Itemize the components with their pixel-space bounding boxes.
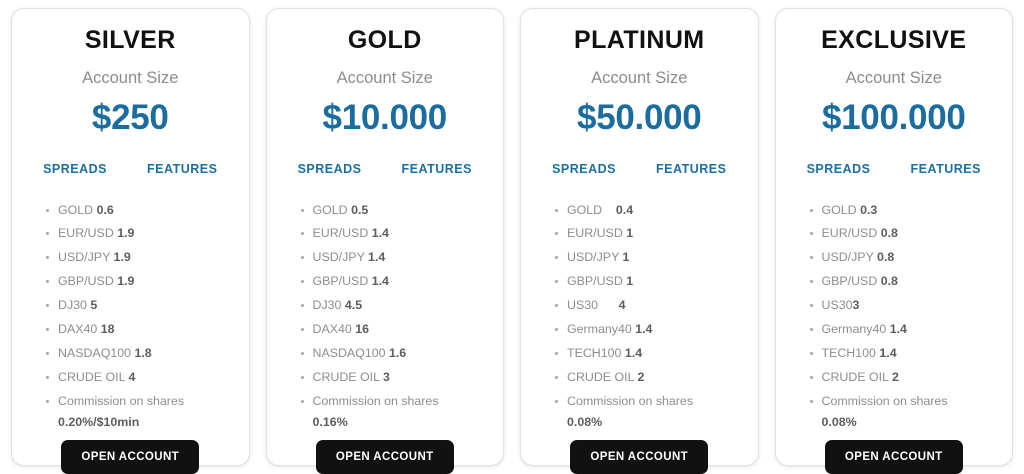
account-size-value: $100.000 xyxy=(822,98,966,138)
pricing-card: PLATINUMAccount Size$50.000SPREADSFEATUR… xyxy=(520,8,759,466)
plan-title: SILVER xyxy=(85,27,176,55)
feature-value: 18 xyxy=(101,322,115,336)
list-item: DAX40 18 xyxy=(46,323,249,335)
feature-label: GOLD xyxy=(567,203,616,217)
feature-list: GOLD 0.3EUR/USD 0.8USD/JPY 0.8GBP/USD 0.… xyxy=(776,204,1013,441)
feature-label: Germany40 xyxy=(567,322,635,336)
feature-value: 3 xyxy=(383,370,390,384)
feature-value: 4 xyxy=(128,370,135,384)
feature-value: 0.6 xyxy=(97,203,114,217)
list-item: TECH100 1.4 xyxy=(810,347,1013,359)
feature-label: DJ30 xyxy=(313,298,345,312)
feature-value: 2 xyxy=(637,370,644,384)
list-item: US30 4 xyxy=(555,299,758,311)
plan-tabs: SPREADSFEATURES xyxy=(776,162,1013,176)
list-item: US303 xyxy=(810,299,1013,311)
list-item: Germany40 1.4 xyxy=(810,323,1013,335)
list-item: EUR/USD 1.9 xyxy=(46,227,249,239)
feature-value: 1.4 xyxy=(372,226,389,240)
feature-label: EUR/USD xyxy=(822,226,881,240)
feature-label: USD/JPY xyxy=(58,250,114,264)
feature-label: Germany40 xyxy=(822,322,890,336)
feature-value: 1.4 xyxy=(368,250,385,264)
feature-label: USD/JPY xyxy=(567,250,623,264)
list-item: GBP/USD 0.8 xyxy=(810,275,1013,287)
list-item: Commission on shares0.08% xyxy=(810,395,1013,429)
pricing-card: GOLDAccount Size$10.000SPREADSFEATURESGO… xyxy=(266,8,505,466)
feature-list: GOLD 0.6EUR/USD 1.9USD/JPY 1.9GBP/USD 1.… xyxy=(12,204,249,441)
account-size-label: Account Size xyxy=(82,69,178,88)
feature-label: EUR/USD xyxy=(313,226,372,240)
tab-spreads[interactable]: SPREADS xyxy=(552,162,616,176)
feature-label: Commission on shares xyxy=(58,394,184,408)
list-item: EUR/USD 0.8 xyxy=(810,227,1013,239)
feature-label: TECH100 xyxy=(822,346,880,360)
account-size-label: Account Size xyxy=(591,69,687,88)
feature-value: 1 xyxy=(626,274,633,288)
feature-label: NASDAQ100 xyxy=(58,346,134,360)
feature-label: Commission on shares xyxy=(822,394,948,408)
list-item: NASDAQ100 1.8 xyxy=(46,347,249,359)
feature-label: DAX40 xyxy=(313,322,356,336)
plan-title: EXCLUSIVE xyxy=(821,27,966,55)
tab-features[interactable]: FEATURES xyxy=(656,162,726,176)
feature-label: CRUDE OIL xyxy=(58,370,128,384)
list-item: CRUDE OIL 3 xyxy=(301,371,504,383)
feature-value: 1.8 xyxy=(134,346,151,360)
list-item: USD/JPY 1 xyxy=(555,251,758,263)
account-size-value: $250 xyxy=(92,98,169,138)
list-item: CRUDE OIL 2 xyxy=(555,371,758,383)
feature-value: 4.5 xyxy=(345,298,362,312)
feature-label: TECH100 xyxy=(567,346,625,360)
open-account-button[interactable]: OPEN ACCOUNT xyxy=(316,440,454,474)
feature-value: 16 xyxy=(355,322,369,336)
feature-list: GOLD 0.4EUR/USD 1USD/JPY 1GBP/USD 1US30 … xyxy=(521,204,758,441)
feature-value: 1.4 xyxy=(635,322,652,336)
list-item: GOLD 0.3 xyxy=(810,204,1013,216)
feature-label: USD/JPY xyxy=(822,250,878,264)
account-size-label: Account Size xyxy=(846,69,942,88)
feature-label: CRUDE OIL xyxy=(313,370,383,384)
feature-value: 1.6 xyxy=(389,346,406,360)
open-account-button[interactable]: OPEN ACCOUNT xyxy=(61,440,199,474)
feature-label: DAX40 xyxy=(58,322,101,336)
pricing-card: SILVERAccount Size$250SPREADSFEATURESGOL… xyxy=(11,8,250,466)
list-item: EUR/USD 1.4 xyxy=(301,227,504,239)
feature-value: 1.4 xyxy=(890,322,907,336)
feature-value: 0.4 xyxy=(616,203,633,217)
feature-subvalue: 0.08% xyxy=(822,416,1013,428)
feature-label: US30 xyxy=(567,298,619,312)
feature-value: 0.8 xyxy=(877,250,894,264)
feature-label: GOLD xyxy=(58,203,97,217)
feature-value: 2 xyxy=(892,370,899,384)
feature-value: 1.9 xyxy=(117,274,134,288)
feature-label: GBP/USD xyxy=(822,274,881,288)
pricing-card: EXCLUSIVEAccount Size$100.000SPREADSFEAT… xyxy=(775,8,1014,466)
list-item: Germany40 1.4 xyxy=(555,323,758,335)
feature-value: 5 xyxy=(90,298,97,312)
feature-label: GBP/USD xyxy=(58,274,117,288)
feature-label: Commission on shares xyxy=(567,394,693,408)
feature-label: CRUDE OIL xyxy=(567,370,637,384)
plan-title: PLATINUM xyxy=(574,27,705,55)
feature-subvalue: 0.08% xyxy=(567,416,758,428)
list-item: Commission on shares0.20%/$10min xyxy=(46,395,249,429)
feature-label: DJ30 xyxy=(58,298,90,312)
open-account-button[interactable]: OPEN ACCOUNT xyxy=(825,440,963,474)
feature-label: EUR/USD xyxy=(567,226,626,240)
tab-spreads[interactable]: SPREADS xyxy=(298,162,362,176)
plan-tabs: SPREADSFEATURES xyxy=(12,162,249,176)
list-item: GOLD 0.6 xyxy=(46,204,249,216)
list-item: DJ30 4.5 xyxy=(301,299,504,311)
account-size-value: $10.000 xyxy=(323,98,447,138)
list-item: TECH100 1.4 xyxy=(555,347,758,359)
feature-label: GOLD xyxy=(822,203,861,217)
feature-value: 0.8 xyxy=(881,274,898,288)
feature-value: 0.8 xyxy=(881,226,898,240)
feature-value: 1 xyxy=(623,250,630,264)
list-item: Commission on shares0.16% xyxy=(301,395,504,429)
feature-value: 1.4 xyxy=(625,346,642,360)
open-account-button[interactable]: OPEN ACCOUNT xyxy=(570,440,708,474)
feature-value: 0.3 xyxy=(860,203,877,217)
list-item: GBP/USD 1.9 xyxy=(46,275,249,287)
feature-value: 1.4 xyxy=(879,346,896,360)
pricing-plans-row: SILVERAccount Size$250SPREADSFEATURESGOL… xyxy=(0,0,1024,474)
list-item: GOLD 0.4 xyxy=(555,204,758,216)
plan-tabs: SPREADSFEATURES xyxy=(521,162,758,176)
plan-tabs: SPREADSFEATURES xyxy=(267,162,504,176)
list-item: Commission on shares0.08% xyxy=(555,395,758,429)
feature-label: GBP/USD xyxy=(313,274,372,288)
feature-value: 4 xyxy=(619,298,626,312)
account-size-value: $50.000 xyxy=(577,98,701,138)
list-item: DJ30 5 xyxy=(46,299,249,311)
feature-value: 3 xyxy=(853,298,860,312)
feature-label: Commission on shares xyxy=(313,394,439,408)
feature-subvalue: 0.16% xyxy=(313,416,504,428)
list-item: EUR/USD 1 xyxy=(555,227,758,239)
tab-spreads[interactable]: SPREADS xyxy=(43,162,107,176)
list-item: USD/JPY 1.9 xyxy=(46,251,249,263)
list-item: USD/JPY 0.8 xyxy=(810,251,1013,263)
feature-value: 1.9 xyxy=(114,250,131,264)
feature-label: NASDAQ100 xyxy=(313,346,389,360)
feature-label: USD/JPY xyxy=(313,250,369,264)
tab-features[interactable]: FEATURES xyxy=(911,162,981,176)
tab-features[interactable]: FEATURES xyxy=(402,162,472,176)
feature-label: GOLD xyxy=(313,203,352,217)
list-item: USD/JPY 1.4 xyxy=(301,251,504,263)
feature-label: US30 xyxy=(822,298,853,312)
list-item: NASDAQ100 1.6 xyxy=(301,347,504,359)
plan-title: GOLD xyxy=(348,27,422,55)
list-item: DAX40 16 xyxy=(301,323,504,335)
list-item: CRUDE OIL 2 xyxy=(810,371,1013,383)
feature-label: EUR/USD xyxy=(58,226,117,240)
feature-value: 0.5 xyxy=(351,203,368,217)
feature-value: 1.4 xyxy=(372,274,389,288)
tab-features[interactable]: FEATURES xyxy=(147,162,217,176)
feature-label: CRUDE OIL xyxy=(822,370,892,384)
list-item: GOLD 0.5 xyxy=(301,204,504,216)
tab-spreads[interactable]: SPREADS xyxy=(807,162,871,176)
list-item: GBP/USD 1.4 xyxy=(301,275,504,287)
list-item: GBP/USD 1 xyxy=(555,275,758,287)
list-item: CRUDE OIL 4 xyxy=(46,371,249,383)
feature-subvalue: 0.20%/$10min xyxy=(58,416,249,428)
feature-value: 1.9 xyxy=(117,226,134,240)
feature-list: GOLD 0.5EUR/USD 1.4USD/JPY 1.4GBP/USD 1.… xyxy=(267,204,504,441)
account-size-label: Account Size xyxy=(337,69,433,88)
feature-value: 1 xyxy=(626,226,633,240)
feature-label: GBP/USD xyxy=(567,274,626,288)
